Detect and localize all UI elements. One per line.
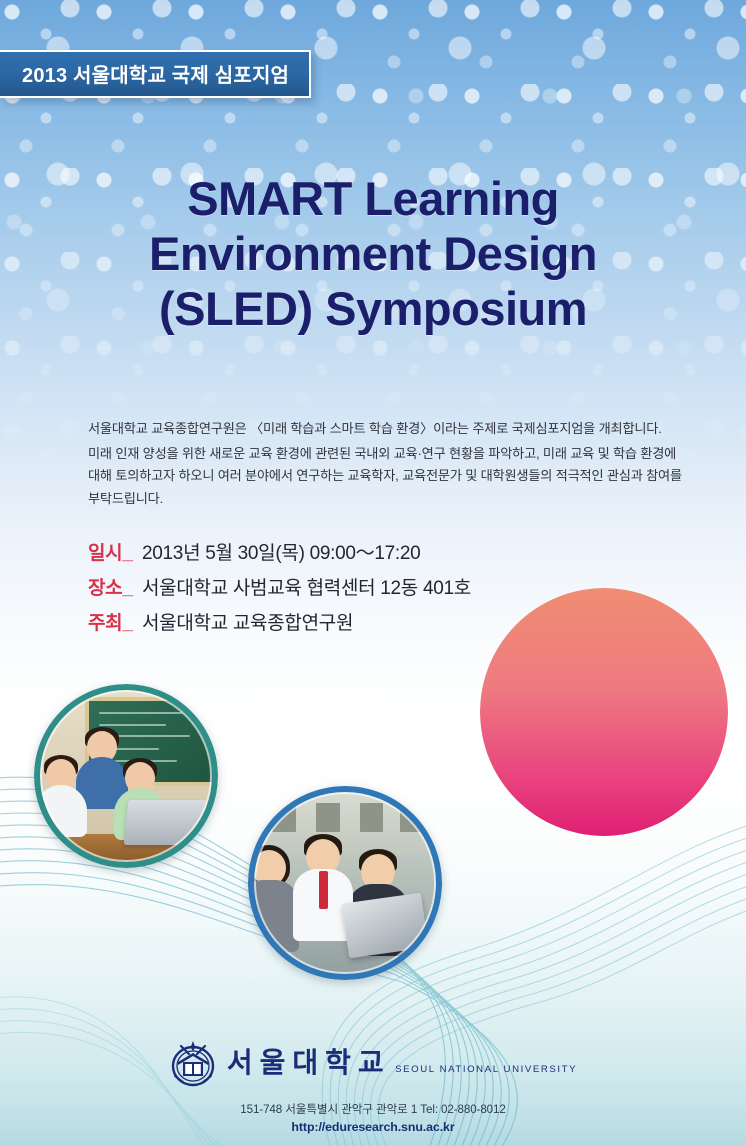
network-node-laptop <box>655 646 703 663</box>
footer-url[interactable]: http://eduresearch.snu.ac.kr <box>0 1120 746 1134</box>
event-details: 일시_ 2013년 5월 30일(목) 09:00〜17:20 장소_ 서울대학… <box>88 538 471 643</box>
network-node-laptop <box>521 740 587 762</box>
photo-students-inner <box>254 792 436 974</box>
detail-label-datetime: 일시_ <box>88 538 142 565</box>
snu-logo: 서울대학교 SEOUL NATIONAL UNIVERSITY <box>0 1038 746 1088</box>
detail-row-venue: 장소_ 서울대학교 사범교육 협력센터 12동 401호 <box>88 573 471 600</box>
photo-globe-network-laptops <box>480 588 728 836</box>
invitation-paragraph-2: 미래 인재 양성을 위한 새로운 교육 환경에 관련된 국내외 교육·연구 현황… <box>88 443 688 511</box>
students-laptop <box>342 892 429 957</box>
snu-shield-emblem-icon <box>169 1038 217 1088</box>
invitation-paragraph-1: 서울대학교 교육종합연구원은 〈미래 학습과 스마트 학습 환경〉이라는 주제로… <box>88 418 688 441</box>
title-line-3: (SLED) Symposium <box>0 282 746 337</box>
footer: 서울대학교 SEOUL NATIONAL UNIVERSITY 151-748 … <box>0 1038 746 1134</box>
header-badge-wrapper: 2013 서울대학교 국제 심포지엄 <box>0 50 311 98</box>
earth-globe-icon <box>561 642 647 728</box>
network-node-laptop <box>631 735 691 755</box>
detail-row-datetime: 일시_ 2013년 5월 30일(목) 09:00〜17:20 <box>88 538 471 565</box>
poster-root: 2013 서울대학교 국제 심포지엄 SMART Learning Enviro… <box>0 0 746 1146</box>
detail-value-venue: 서울대학교 사범교육 협력센터 12동 401호 <box>142 573 471 600</box>
title-line-1: SMART Learning <box>0 172 746 227</box>
network-node-laptop <box>497 684 557 704</box>
snu-logo-korean: 서울대학교 <box>227 1047 391 1078</box>
symposium-badge: 2013 서울대학교 국제 심포지엄 <box>0 50 311 98</box>
network-node-laptop <box>509 646 557 663</box>
photo-classroom-children-laptop <box>34 684 218 868</box>
wall-panel <box>316 803 340 832</box>
network-node-laptop <box>653 689 713 709</box>
detail-label-venue: 장소_ <box>88 573 142 600</box>
detail-label-host: 주최_ <box>88 608 142 635</box>
photo-university-students-laptop <box>248 786 442 980</box>
title-line-2: Environment Design <box>0 227 746 282</box>
classroom-laptop <box>124 800 208 845</box>
footer-address: 151-748 서울특별시 관악구 관악로 1 Tel: 02-880-8012 <box>0 1101 746 1117</box>
page-title: SMART Learning Environment Design (SLED)… <box>0 172 746 337</box>
wall-panel <box>400 803 424 832</box>
detail-value-host: 서울대학교 교육종합연구원 <box>142 608 353 635</box>
snu-logo-text: 서울대학교 SEOUL NATIONAL UNIVERSITY <box>227 1049 577 1077</box>
photo-globe-inner <box>487 595 721 829</box>
wall-panel <box>272 803 296 832</box>
detail-row-host: 주최_ 서울대학교 교육종합연구원 <box>88 608 471 635</box>
wall-panel <box>360 803 384 832</box>
invitation-text: 서울대학교 교육종합연구원은 〈미래 학습과 스마트 학습 환경〉이라는 주제로… <box>88 418 688 511</box>
photo-classroom-inner <box>40 690 212 862</box>
snu-logo-english: SEOUL NATIONAL UNIVERSITY <box>395 1064 577 1075</box>
detail-value-datetime: 2013년 5월 30일(목) 09:00〜17:20 <box>142 538 420 565</box>
